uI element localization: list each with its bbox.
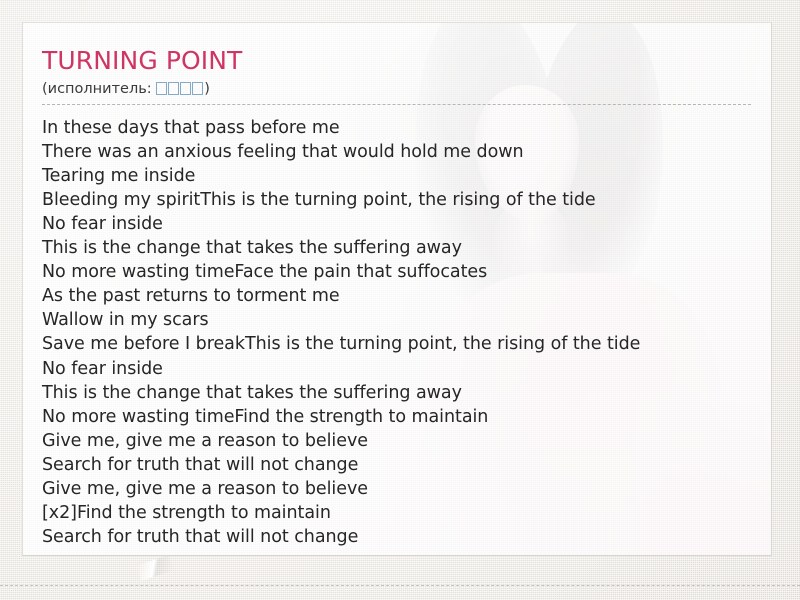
lyric-line: Search for truth that will not change: [42, 525, 751, 549]
slide-content: TURNING POINT (исполнитель: ) In these d…: [23, 23, 771, 549]
artist-label: (исполнитель:: [42, 81, 156, 97]
artist-line: (исполнитель: ): [42, 80, 751, 103]
lyric-line: Tearing me inside: [42, 164, 751, 188]
lyrics-slide-card: TURNING POINT (исполнитель: ) In these d…: [22, 22, 772, 556]
missing-glyph-box: [192, 82, 203, 95]
lyric-line: Give me, give me a reason to believe: [42, 429, 751, 453]
lyric-line: Give me, give me a reason to believe: [42, 477, 751, 501]
lyric-line: [x2]Find the strength to maintain: [42, 501, 751, 525]
lyric-line: Search for truth that will not change: [42, 453, 751, 477]
lyric-line: Wallow in my scars: [42, 308, 751, 332]
lyric-line: There was an anxious feeling that would …: [42, 140, 751, 164]
lyric-line: No fear inside: [42, 357, 751, 381]
lyric-line: This is the change that takes the suffer…: [42, 236, 751, 260]
missing-glyph-box: [180, 82, 191, 95]
lyric-line: Bleeding my spiritThis is the turning po…: [42, 188, 751, 212]
page-dashed-rule: [0, 585, 800, 586]
artist-link[interactable]: [156, 81, 204, 97]
lyric-line: As the past returns to torment me: [42, 284, 751, 308]
lyric-line: No more wasting timeFind the strength to…: [42, 405, 751, 429]
lyric-line: This is the change that takes the suffer…: [42, 381, 751, 405]
lyric-line: No more wasting timeFace the pain that s…: [42, 260, 751, 284]
missing-glyph-box: [156, 82, 167, 95]
missing-glyph-box: [168, 82, 179, 95]
lyric-line: In these days that pass before me: [42, 116, 751, 140]
lyric-line: No fear inside: [42, 212, 751, 236]
header-separator: [42, 104, 751, 105]
lyrics-body: In these days that pass before meThere w…: [42, 116, 751, 550]
artist-close-paren: ): [204, 81, 210, 97]
lyric-line: Save me before I breakThis is the turnin…: [42, 332, 751, 356]
page-title: TURNING POINT: [42, 47, 751, 75]
